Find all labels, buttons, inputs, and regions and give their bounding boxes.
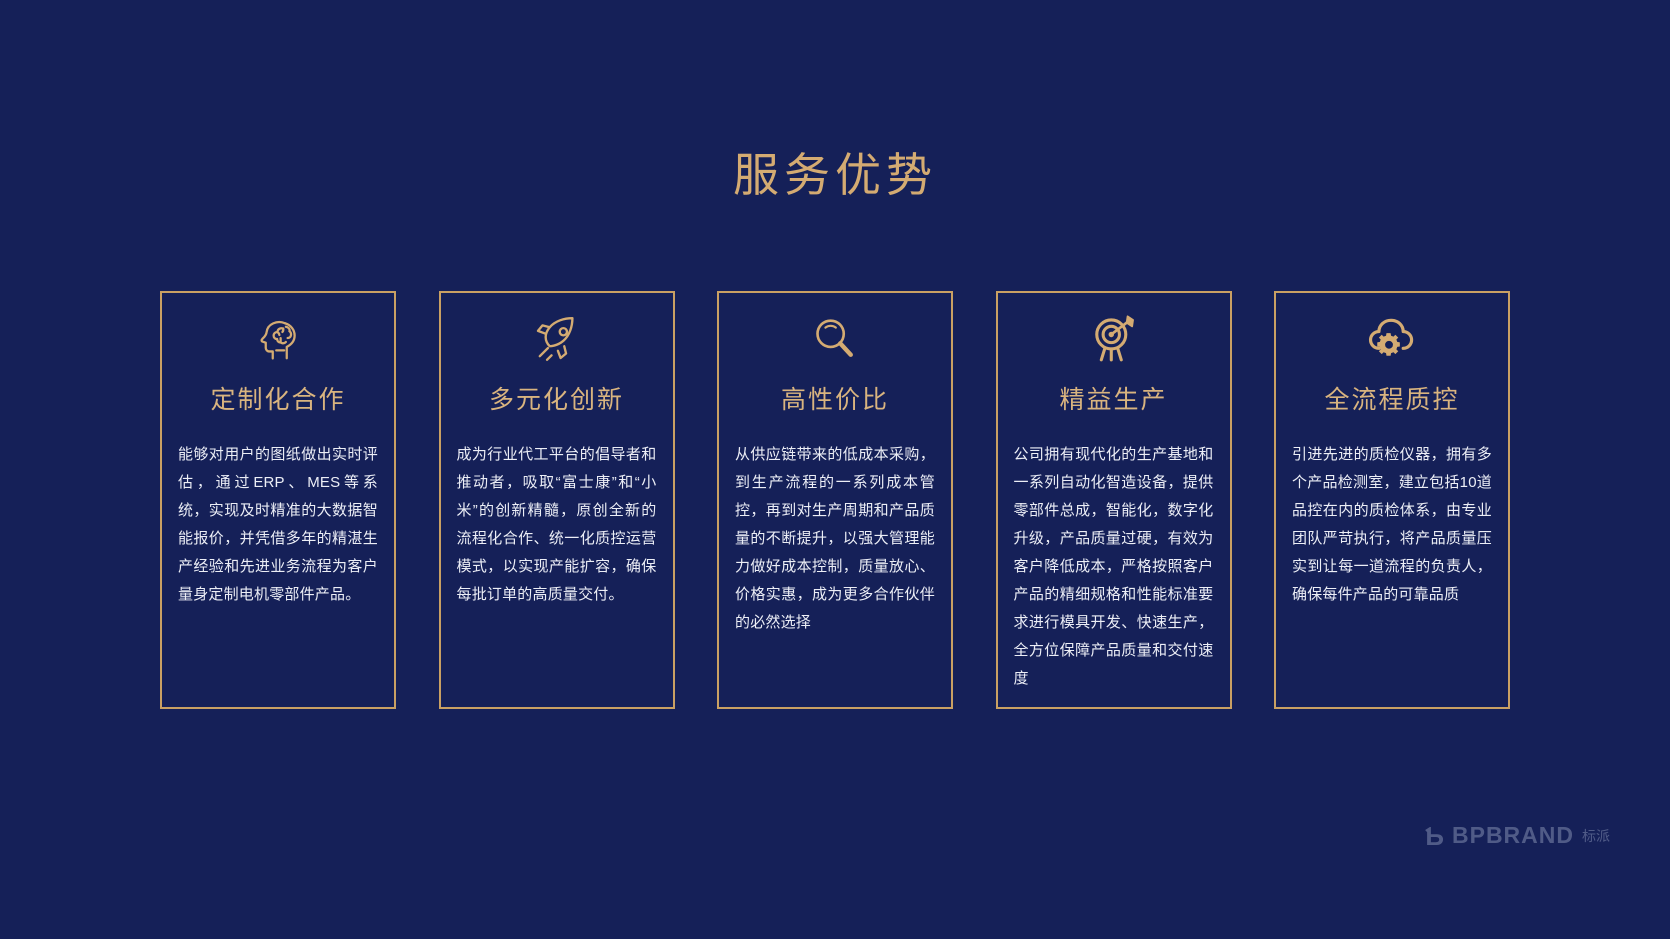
card-title: 高性价比: [781, 380, 889, 416]
card-body-text: 从供应链带来的低成本采购，到生产流程的一系列成本管控，再到对生产周期和产品质量的…: [735, 441, 935, 637]
brand-watermark: Ƅ BPBRAND 标派: [1425, 822, 1610, 849]
card-body: 能够对用户的图纸做出实时评估，通过ERP、MES等系统，实现及时精准的大数据智能…: [160, 421, 396, 709]
watermark-logo-icon: Ƅ: [1425, 823, 1444, 849]
card-body: 引进先进的质检仪器，拥有多个产品检测室，建立包括10道品控在内的质检体系，由专业…: [1274, 421, 1510, 709]
card-body: 从供应链带来的低成本采购，到生产流程的一系列成本管控，再到对生产周期和产品质量的…: [717, 421, 953, 709]
page-title: 服务优势: [0, 148, 1670, 203]
advantage-card[interactable]: 高性价比 从供应链带来的低成本采购，到生产流程的一系列成本管控，再到对生产周期和…: [717, 291, 953, 709]
card-title: 多元化创新: [489, 380, 624, 416]
card-title: 定制化合作: [210, 380, 345, 416]
slide-canvas: 服务优势 定制化合作 能够对用户的图纸做出实时评估，通过ERP、MES等系统，实…: [0, 0, 1670, 939]
target-arrow-icon: [1085, 310, 1143, 368]
card-body-text: 能够对用户的图纸做出实时评估，通过ERP、MES等系统，实现及时精准的大数据智能…: [178, 441, 378, 609]
advantage-card-list: 定制化合作 能够对用户的图纸做出实时评估，通过ERP、MES等系统，实现及时精准…: [160, 291, 1510, 709]
card-header: 高性价比: [717, 291, 953, 421]
advantage-card[interactable]: 多元化创新 成为行业代工平台的倡导者和推动者，吸取“富士康”和“小米”的创新精髓…: [439, 291, 675, 709]
card-title: 精益生产: [1059, 380, 1167, 416]
card-body-text: 引进先进的质检仪器，拥有多个产品检测室，建立包括10道品控在内的质检体系，由专业…: [1292, 441, 1492, 609]
card-header: 精益生产: [996, 291, 1232, 421]
watermark-brand: BPBRAND: [1452, 822, 1574, 849]
magnifier-icon: [807, 310, 863, 368]
advantage-card[interactable]: 精益生产 公司拥有现代化的生产基地和一系列自动化智造设备，提供零部件总成，智能化…: [996, 291, 1232, 709]
advantage-card[interactable]: 定制化合作 能够对用户的图纸做出实时评估，通过ERP、MES等系统，实现及时精准…: [160, 291, 396, 709]
card-body-text: 成为行业代工平台的倡导者和推动者，吸取“富士康”和“小米”的创新精髓，原创全新的…: [457, 441, 657, 609]
rocket-icon: [528, 310, 586, 368]
card-header: 定制化合作: [160, 291, 396, 421]
cloud-gear-icon: [1362, 310, 1422, 368]
card-header: 全流程质控: [1274, 291, 1510, 421]
card-body: 公司拥有现代化的生产基地和一系列自动化智造设备，提供零部件总成，智能化，数字化升…: [996, 421, 1232, 709]
advantage-card[interactable]: 全流程质控 引进先进的质检仪器，拥有多个产品检测室，建立包括10道品控在内的质检…: [1274, 291, 1510, 709]
head-brain-icon: [250, 310, 306, 368]
card-body: 成为行业代工平台的倡导者和推动者，吸取“富士康”和“小米”的创新精髓，原创全新的…: [439, 421, 675, 709]
watermark-brand-cn: 标派: [1582, 826, 1610, 846]
card-title: 全流程质控: [1324, 380, 1459, 416]
card-header: 多元化创新: [439, 291, 675, 421]
card-body-text: 公司拥有现代化的生产基地和一系列自动化智造设备，提供零部件总成，智能化，数字化升…: [1014, 441, 1214, 693]
